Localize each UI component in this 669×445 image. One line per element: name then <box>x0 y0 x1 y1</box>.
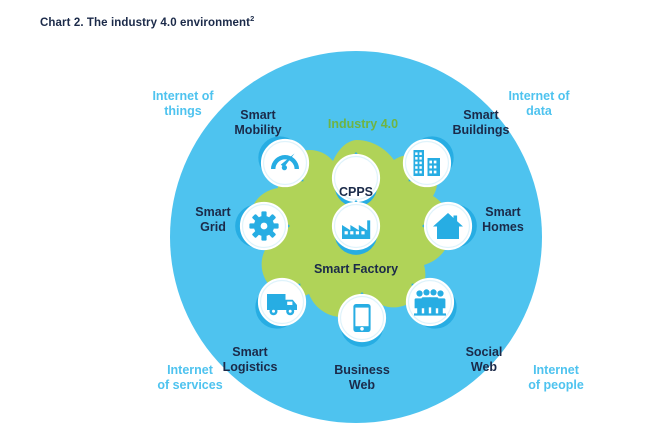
gear-icon <box>249 211 278 240</box>
cpps-label: CPPS <box>339 185 373 199</box>
node-label-business-web-line2: Web <box>349 378 376 392</box>
smartphone-icon <box>353 304 370 332</box>
node-label-smart-mobility-line2: Mobility <box>234 123 281 137</box>
quadrant-label-internet-of-data-line2: data <box>526 104 553 118</box>
node-label-business-web-line1: Business <box>334 363 390 377</box>
node-label-smart-grid-line1: Smart <box>195 205 231 219</box>
quadrant-label-internet-of-services-line1: Internet <box>167 363 214 377</box>
node-business-web[interactable] <box>340 292 385 347</box>
quadrant-label-internet-of-things-line1: Internet of <box>152 89 214 103</box>
industry-40-brand-label: Industry 4.0 <box>328 117 398 131</box>
node-smart-grid[interactable] <box>235 204 290 249</box>
node-label-smart-logistics-line1: Smart <box>232 345 268 359</box>
smart-factory-label: Smart Factory <box>314 262 398 276</box>
node-label-smart-mobility-line1: Smart <box>240 108 276 122</box>
quadrant-label-internet-of-people-line2: of people <box>528 378 584 392</box>
quadrant-label-internet-of-services-line2: of services <box>157 378 222 392</box>
node-label-social-web-line2: Web <box>471 360 498 374</box>
quadrant-label-internet-of-data-line1: Internet of <box>508 89 570 103</box>
industry-40-environment-diagram: CPPS Smart Factory Smart Mobility Smart … <box>0 0 669 445</box>
node-label-smart-logistics-line2: Logistics <box>223 360 278 374</box>
quadrant-label-internet-of-people-line1: Internet <box>533 363 580 377</box>
node-label-smart-grid-line2: Grid <box>200 220 226 234</box>
node-label-smart-buildings-line1: Smart <box>463 108 499 122</box>
quadrant-label-internet-of-things-line2: things <box>164 104 202 118</box>
node-label-social-web-line1: Social <box>466 345 503 359</box>
node-label-smart-homes-line1: Smart <box>485 205 521 219</box>
node-label-smart-buildings-line2: Buildings <box>453 123 510 137</box>
node-smart-homes[interactable] <box>422 204 477 249</box>
smart-factory-node[interactable] <box>334 200 379 255</box>
node-label-smart-homes-line2: Homes <box>482 220 524 234</box>
smart-factory-pin-icon <box>334 200 379 255</box>
